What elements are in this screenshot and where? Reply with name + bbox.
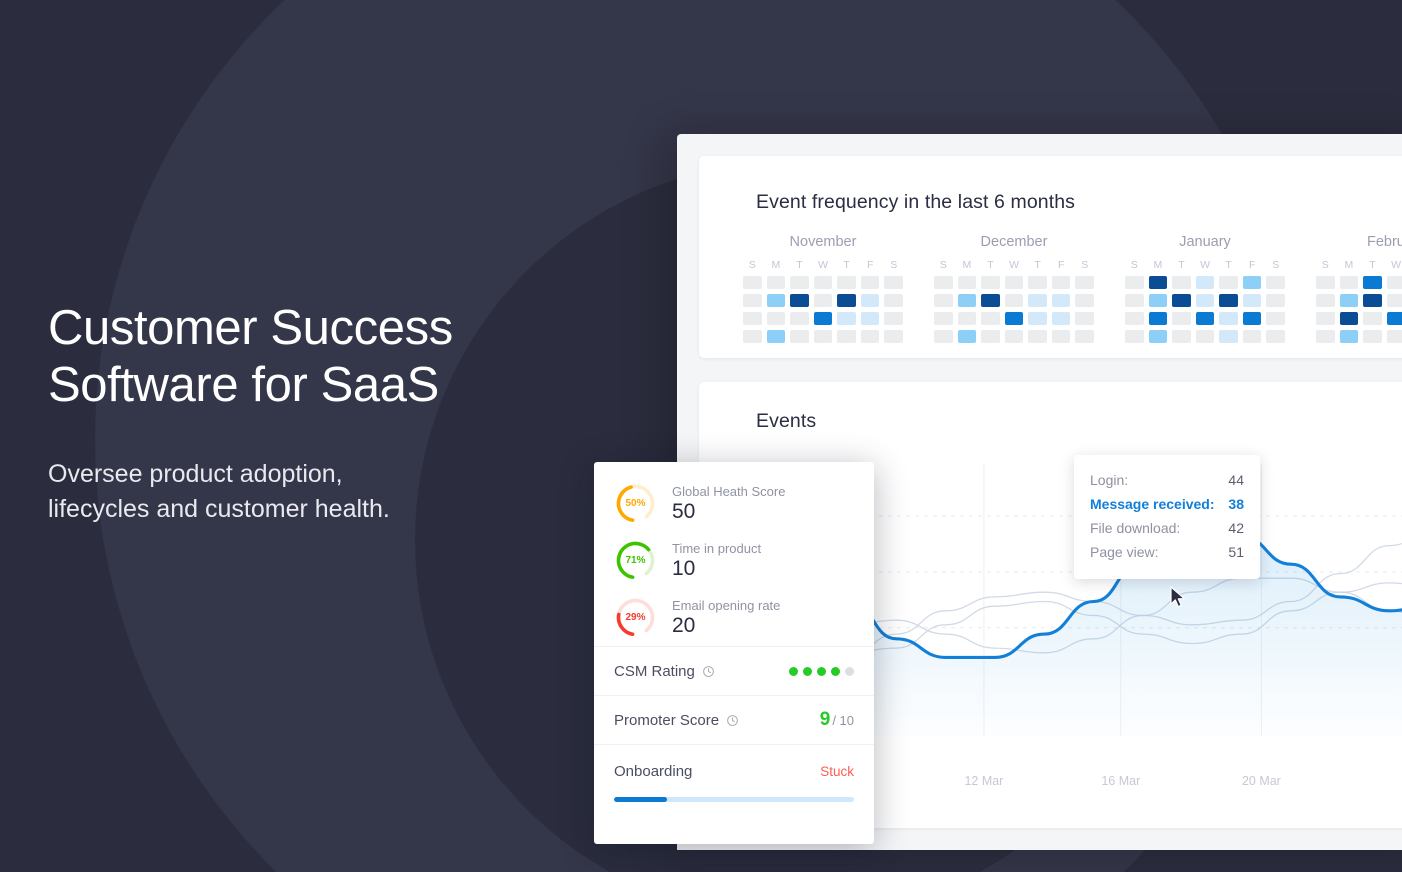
- heatmap-cell[interactable]: [1125, 312, 1144, 325]
- metric-value: 10: [672, 558, 761, 580]
- heatmap-month-december: DecemberSMTWTFS: [934, 234, 1094, 348]
- rating-dot: [845, 667, 854, 676]
- month-label: February: [1316, 234, 1402, 250]
- heatmap-cell[interactable]: [1005, 294, 1024, 307]
- heatmap-cell[interactable]: [1316, 330, 1335, 343]
- day-initial: M: [1340, 259, 1359, 271]
- heatmap-cell[interactable]: [743, 330, 762, 343]
- heatmap-cell[interactable]: [1149, 294, 1168, 307]
- heatmap-cell[interactable]: [767, 294, 786, 307]
- tooltip-value: 51: [1228, 545, 1244, 559]
- heatmap-cell[interactable]: [861, 330, 880, 343]
- heatmap-cell[interactable]: [1219, 276, 1238, 289]
- heatmap-cell[interactable]: [1243, 276, 1262, 289]
- day-initial: F: [1052, 259, 1071, 271]
- heatmap-cell[interactable]: [958, 330, 977, 343]
- heatmap-week-row: [934, 276, 1094, 289]
- heatmap-cell[interactable]: [1028, 276, 1047, 289]
- events-title: Events: [756, 410, 816, 433]
- heatmap-cell[interactable]: [884, 276, 903, 289]
- tooltip-label: Page view:: [1090, 545, 1158, 559]
- heatmap-cell[interactable]: [884, 312, 903, 325]
- heatmap-cell[interactable]: [1172, 276, 1191, 289]
- metric-text: Global Heath Score50: [672, 484, 785, 523]
- heatmap-cell[interactable]: [934, 276, 953, 289]
- day-initial: S: [934, 259, 953, 271]
- gauge-percent-label: 29%: [614, 596, 657, 639]
- heatmap-cell[interactable]: [837, 312, 856, 325]
- day-initial: S: [884, 259, 903, 271]
- heatmap-cell[interactable]: [934, 312, 953, 325]
- tooltip-row: Message received:38: [1090, 492, 1244, 516]
- event-frequency-title: Event frequency in the last 6 months: [756, 191, 1075, 214]
- metric-row: 50%Global Heath Score50: [594, 475, 874, 532]
- csm-rating-row: CSM Rating: [594, 646, 874, 695]
- promoter-score-row: Promoter Score 9/ 10: [594, 695, 874, 744]
- rating-dot: [831, 667, 840, 676]
- chart-tooltip: Login:44Message received:38File download…: [1074, 455, 1260, 579]
- heatmap-cell[interactable]: [958, 294, 977, 307]
- onboarding-row: Onboarding Stuck: [594, 744, 874, 822]
- tooltip-value: 42: [1228, 521, 1244, 535]
- heatmap-cell[interactable]: [934, 294, 953, 307]
- day-initial: W: [1196, 259, 1215, 271]
- heatmap-cell[interactable]: [1316, 276, 1335, 289]
- metric-label: Time in product: [672, 541, 761, 556]
- heatmap-cell[interactable]: [1149, 312, 1168, 325]
- tooltip-value: 38: [1228, 497, 1244, 511]
- x-axis-tick-label: 20 Mar: [1242, 774, 1281, 788]
- heatmap-cell[interactable]: [1149, 330, 1168, 343]
- promoter-score-value: 9: [820, 709, 831, 730]
- heatmap-cell[interactable]: [1243, 330, 1262, 343]
- x-axis-tick-label: 12 Mar: [964, 774, 1003, 788]
- heatmap-week-row: [1316, 294, 1402, 307]
- day-initial: S: [1316, 259, 1335, 271]
- day-initial: M: [1149, 259, 1168, 271]
- heatmap-cell[interactable]: [1243, 294, 1262, 307]
- heatmap-cell[interactable]: [1266, 330, 1285, 343]
- heatmap-cell[interactable]: [1266, 276, 1285, 289]
- heatmap-cell[interactable]: [981, 276, 1000, 289]
- day-initials-row: SMTWTFS: [934, 259, 1094, 271]
- day-initial: T: [837, 259, 856, 271]
- heatmap-month-february: FebruarySMTWTFS: [1316, 234, 1402, 348]
- heatmap-week-row: [1316, 276, 1402, 289]
- day-initial: T: [1363, 259, 1382, 271]
- day-initial: T: [1219, 259, 1238, 271]
- tooltip-row: Login:44: [1090, 468, 1244, 492]
- heatmap-week-row: [743, 330, 903, 343]
- heatmap-cell[interactable]: [767, 312, 786, 325]
- gauge-percent-label: 71%: [614, 539, 657, 582]
- donut-gauge-icon: 71%: [614, 539, 657, 582]
- heatmap-cell[interactable]: [1363, 330, 1382, 343]
- heatmap-cell[interactable]: [1028, 330, 1047, 343]
- heatmap-cell[interactable]: [1363, 312, 1382, 325]
- heatmap-cell[interactable]: [1266, 312, 1285, 325]
- day-initial: T: [1172, 259, 1191, 271]
- tooltip-row: File download:42: [1090, 516, 1244, 540]
- heatmap-cell[interactable]: [743, 294, 762, 307]
- heatmap-cell[interactable]: [743, 276, 762, 289]
- heatmap-cell[interactable]: [814, 312, 833, 325]
- metric-value: 20: [672, 615, 780, 637]
- heatmap-week-row: [1125, 330, 1285, 343]
- day-initial: T: [1028, 259, 1047, 271]
- day-initial: W: [1005, 259, 1024, 271]
- heatmap-cell[interactable]: [1387, 312, 1402, 325]
- heatmap-cell[interactable]: [1052, 294, 1071, 307]
- donut-gauge-icon: 50%: [614, 482, 657, 525]
- heatmap-cell[interactable]: [861, 276, 880, 289]
- promoter-score-max: / 10: [832, 713, 854, 728]
- heatmap-cell[interactable]: [1052, 312, 1071, 325]
- heatmap-cell[interactable]: [1316, 294, 1335, 307]
- health-score-card: 50%Global Heath Score5071%Time in produc…: [594, 462, 874, 844]
- event-frequency-card: Event frequency in the last 6 months Nov…: [699, 156, 1402, 358]
- heatmap-cell[interactable]: [1196, 294, 1215, 307]
- heatmap-cell[interactable]: [1172, 330, 1191, 343]
- heatmap-cell[interactable]: [1387, 294, 1402, 307]
- heatmap-cell[interactable]: [1196, 330, 1215, 343]
- page-subtitle: Oversee product adoption, lifecycles and…: [48, 457, 648, 528]
- heatmap-cell[interactable]: [1125, 276, 1144, 289]
- month-label: January: [1125, 234, 1285, 250]
- metric-text: Time in product10: [672, 541, 761, 580]
- metrics-list: 50%Global Heath Score5071%Time in produc…: [594, 475, 874, 646]
- promoter-score-value-group: 9/ 10: [820, 709, 854, 731]
- month-label: November: [743, 234, 903, 250]
- heatmap-week-row: [934, 294, 1094, 307]
- tooltip-label: Login:: [1090, 473, 1128, 487]
- heatmap-cell[interactable]: [981, 294, 1000, 307]
- heatmap-cell[interactable]: [1340, 330, 1359, 343]
- day-initial: S: [1075, 259, 1094, 271]
- day-initial: T: [790, 259, 809, 271]
- metric-label: Email opening rate: [672, 598, 780, 613]
- heatmap-month-november: NovemberSMTWTFS: [743, 234, 903, 348]
- metric-row: 29%Email opening rate20: [594, 589, 874, 646]
- day-initial: S: [743, 259, 762, 271]
- heatmap-cell[interactable]: [958, 312, 977, 325]
- heatmap-cell[interactable]: [814, 330, 833, 343]
- heatmap-cell[interactable]: [1340, 312, 1359, 325]
- heatmap-cell[interactable]: [790, 312, 809, 325]
- promoter-score-label: Promoter Score: [614, 712, 719, 729]
- csm-rating-label: CSM Rating: [614, 663, 695, 680]
- day-initial: S: [1266, 259, 1285, 271]
- heatmap-cell[interactable]: [1052, 330, 1071, 343]
- heatmap-cell[interactable]: [1219, 312, 1238, 325]
- calendar-heatmap: NovemberSMTWTFSDecemberSMTWTFSJanuarySMT…: [743, 234, 1402, 348]
- tooltip-row: Page view:51: [1090, 540, 1244, 564]
- day-initial: F: [1243, 259, 1262, 271]
- heatmap-cell[interactable]: [1149, 276, 1168, 289]
- heatmap-cell[interactable]: [1219, 330, 1238, 343]
- heatmap-cell[interactable]: [790, 294, 809, 307]
- heatmap-cell[interactable]: [1340, 294, 1359, 307]
- heatmap-cell[interactable]: [1266, 294, 1285, 307]
- heatmap-cell[interactable]: [837, 330, 856, 343]
- heatmap-week-row: [743, 276, 903, 289]
- heatmap-cell[interactable]: [767, 276, 786, 289]
- heatmap-cell[interactable]: [884, 294, 903, 307]
- heatmap-cell[interactable]: [1005, 330, 1024, 343]
- heatmap-cell[interactable]: [814, 276, 833, 289]
- heatmap-cell[interactable]: [1219, 294, 1238, 307]
- day-initial: F: [861, 259, 880, 271]
- day-initials-row: SMTWTFS: [1316, 259, 1402, 271]
- heatmap-cell[interactable]: [1243, 312, 1262, 325]
- heatmap-cell[interactable]: [1028, 312, 1047, 325]
- onboarding-label: Onboarding: [614, 763, 692, 780]
- heatmap-cell[interactable]: [1363, 276, 1382, 289]
- heatmap-cell[interactable]: [1387, 276, 1402, 289]
- heatmap-cell[interactable]: [1340, 276, 1359, 289]
- heatmap-cell[interactable]: [1387, 330, 1402, 343]
- heatmap-cell[interactable]: [1005, 276, 1024, 289]
- heatmap-week-row: [1125, 312, 1285, 325]
- heatmap-month-january: JanuarySMTWTFS: [1125, 234, 1285, 348]
- heatmap-cell[interactable]: [1125, 294, 1144, 307]
- heatmap-cell[interactable]: [1052, 276, 1071, 289]
- heatmap-cell[interactable]: [1196, 312, 1215, 325]
- metric-label: Global Heath Score: [672, 484, 785, 499]
- heatmap-week-row: [1316, 330, 1402, 343]
- heatmap-cell[interactable]: [767, 330, 786, 343]
- heatmap-cell[interactable]: [1172, 312, 1191, 325]
- heatmap-cell[interactable]: [861, 294, 880, 307]
- rating-dot: [817, 667, 826, 676]
- onboarding-progress-fill: [614, 797, 667, 802]
- heatmap-cell[interactable]: [981, 312, 1000, 325]
- mouse-cursor-icon: [1170, 586, 1187, 614]
- heatmap-week-row: [934, 312, 1094, 325]
- heatmap-week-row: [1125, 276, 1285, 289]
- rating-dot: [803, 667, 812, 676]
- onboarding-header: Onboarding Stuck: [614, 763, 854, 780]
- onboarding-progress-bar: [614, 797, 854, 802]
- day-initials-row: SMTWTFS: [743, 259, 903, 271]
- x-axis-tick-label: 16 Mar: [1101, 774, 1140, 788]
- heatmap-week-row: [743, 312, 903, 325]
- heatmap-cell[interactable]: [790, 330, 809, 343]
- heatmap-cell[interactable]: [958, 276, 977, 289]
- csm-rating-dots: [789, 667, 854, 676]
- gauge-percent-label: 50%: [614, 482, 657, 525]
- day-initials-row: SMTWTFS: [1125, 259, 1285, 271]
- tooltip-value: 44: [1228, 473, 1244, 487]
- heatmap-cell[interactable]: [981, 330, 1000, 343]
- hero-section: Customer Success Software for SaaS Overs…: [48, 300, 648, 528]
- rating-dot: [789, 667, 798, 676]
- heatmap-cell[interactable]: [1316, 312, 1335, 325]
- heatmap-week-row: [1316, 312, 1402, 325]
- heatmap-cell[interactable]: [1125, 330, 1144, 343]
- heatmap-cell[interactable]: [1075, 276, 1094, 289]
- metric-text: Email opening rate20: [672, 598, 780, 637]
- heatmap-cell[interactable]: [1196, 276, 1215, 289]
- donut-gauge-icon: 29%: [614, 596, 657, 639]
- heatmap-cell[interactable]: [884, 330, 903, 343]
- csm-rating-left: CSM Rating: [614, 663, 715, 680]
- heatmap-cell[interactable]: [837, 276, 856, 289]
- heatmap-cell[interactable]: [1028, 294, 1047, 307]
- heatmap-cell[interactable]: [1075, 294, 1094, 307]
- heatmap-cell[interactable]: [837, 294, 856, 307]
- month-label: December: [934, 234, 1094, 250]
- heatmap-cell[interactable]: [814, 294, 833, 307]
- day-initial: S: [1125, 259, 1144, 271]
- heatmap-cell[interactable]: [861, 312, 880, 325]
- metric-row: 71%Time in product10: [594, 532, 874, 589]
- day-initial: W: [814, 259, 833, 271]
- heatmap-week-row: [934, 330, 1094, 343]
- heatmap-cell[interactable]: [1363, 294, 1382, 307]
- page-title: Customer Success Software for SaaS: [48, 300, 648, 415]
- heatmap-cell[interactable]: [1005, 312, 1024, 325]
- heatmap-week-row: [1125, 294, 1285, 307]
- day-initial: T: [981, 259, 1000, 271]
- heatmap-cell[interactable]: [1075, 330, 1094, 343]
- heatmap-cell[interactable]: [790, 276, 809, 289]
- onboarding-status-badge: Stuck: [820, 764, 854, 779]
- heatmap-cell[interactable]: [1172, 294, 1191, 307]
- tooltip-label: Message received:: [1090, 497, 1215, 511]
- day-initial: M: [958, 259, 977, 271]
- metric-value: 50: [672, 501, 785, 523]
- clock-icon: [726, 714, 739, 727]
- day-initial: M: [767, 259, 786, 271]
- clock-icon: [702, 665, 715, 678]
- heatmap-cell[interactable]: [743, 312, 762, 325]
- tooltip-label: File download:: [1090, 521, 1180, 535]
- day-initial: W: [1387, 259, 1402, 271]
- heatmap-cell[interactable]: [1075, 312, 1094, 325]
- heatmap-cell[interactable]: [934, 330, 953, 343]
- promoter-score-left: Promoter Score: [614, 712, 739, 729]
- heatmap-week-row: [743, 294, 903, 307]
